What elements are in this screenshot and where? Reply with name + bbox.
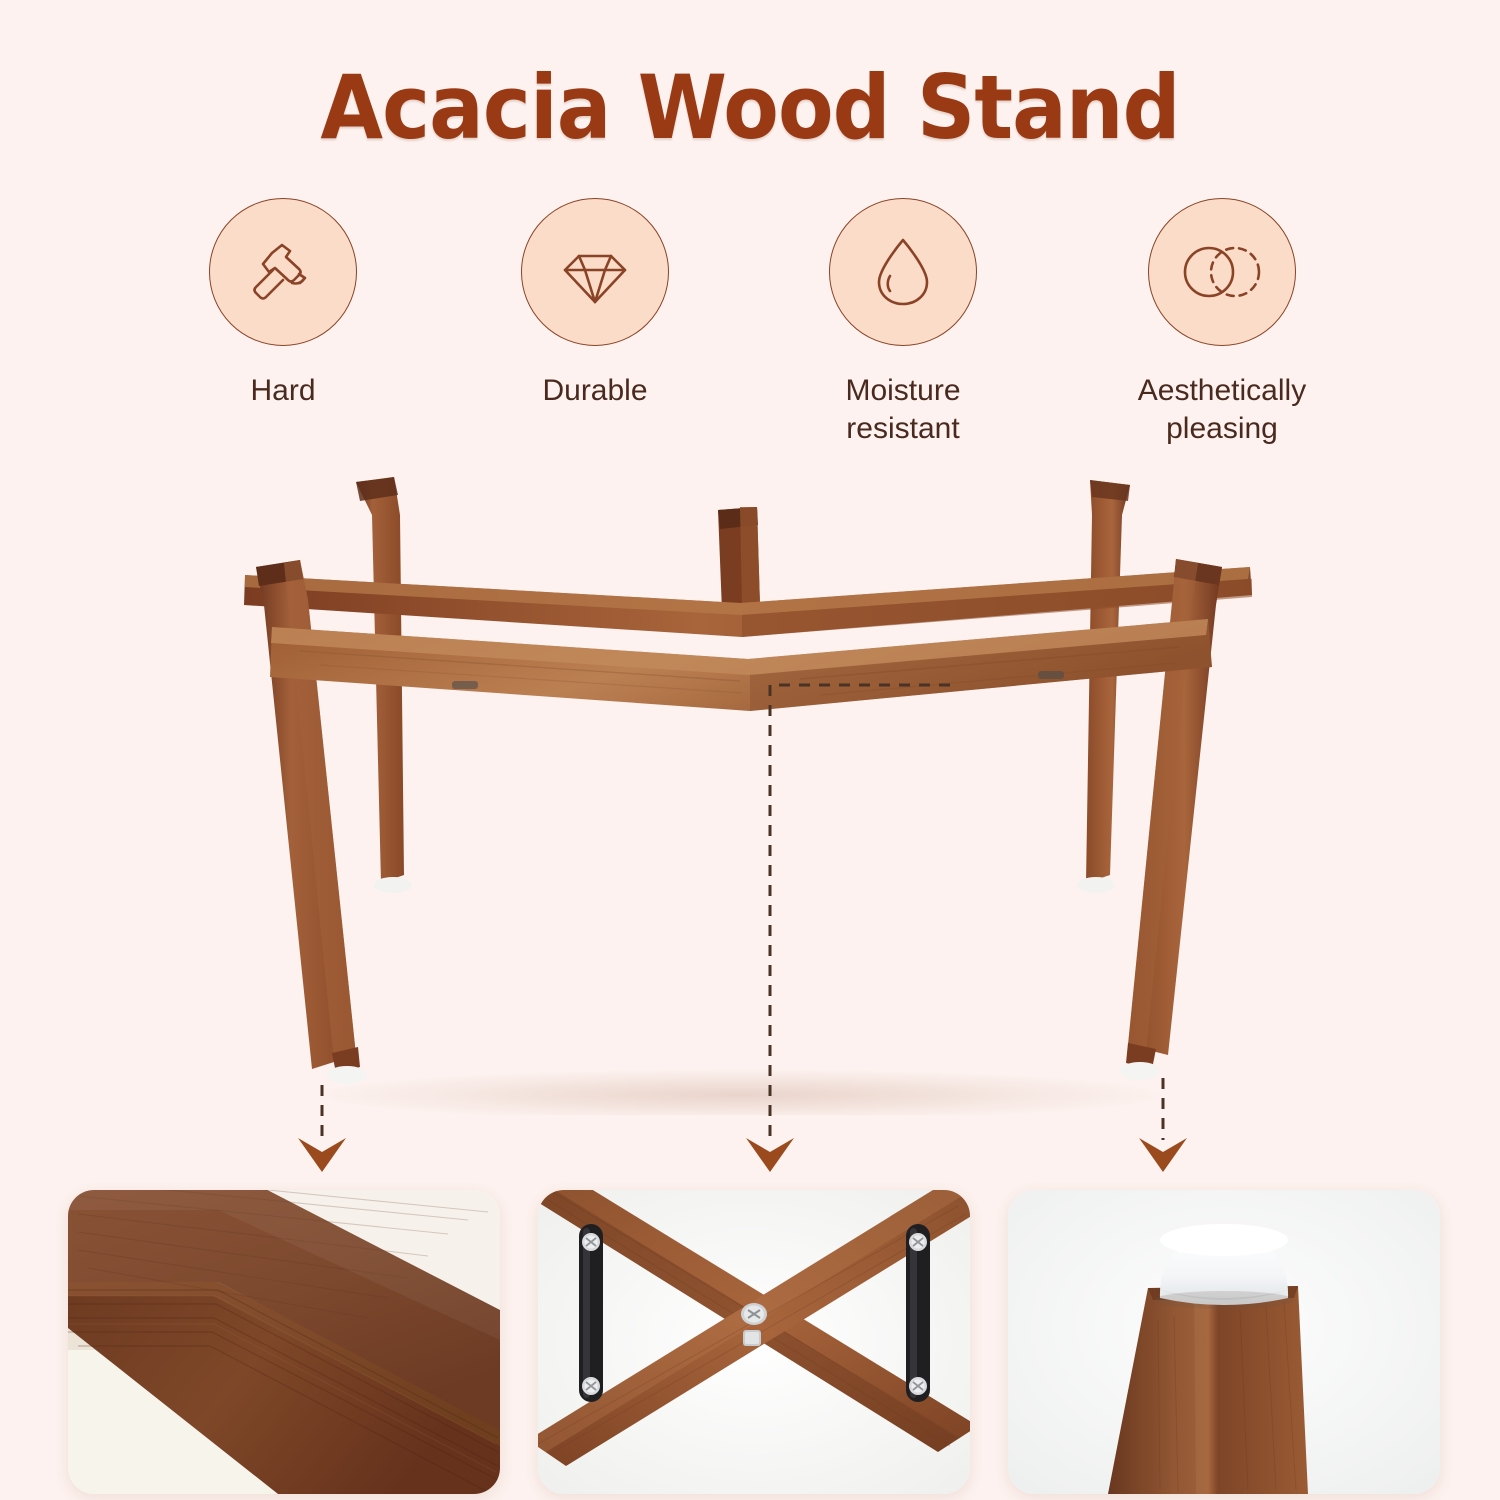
- feature-label: Moisture resistant: [783, 372, 1023, 448]
- center-screw: [741, 1303, 767, 1325]
- feature-label: Hard: [163, 372, 403, 410]
- page-title: Acacia Wood Stand: [60, 56, 1440, 159]
- product-photo-main: [0, 455, 1500, 1115]
- feature-label: Durable: [475, 372, 715, 410]
- panel-foot-cap: [1008, 1190, 1440, 1494]
- feature-icon-badge: [829, 198, 977, 346]
- feature-item-hard: Hard: [163, 198, 403, 410]
- hammer-icon: [242, 231, 324, 313]
- feature-label: Aesthetically pleasing: [1102, 372, 1342, 448]
- feature-item-durable: Durable: [475, 198, 715, 410]
- feature-icon-badge: [1148, 198, 1296, 346]
- feature-item-aesthetically-pleasing: Aesthetically pleasing: [1102, 198, 1342, 448]
- feature-icon-badge: [209, 198, 357, 346]
- stand-center-post: [718, 507, 760, 611]
- feature-strip: Hard Durable Moisture: [0, 198, 1500, 458]
- stand-leg-back-right: [1077, 480, 1130, 893]
- detail-panel-row: [0, 1190, 1500, 1500]
- water-droplet-icon: [870, 234, 936, 310]
- bracket-left: [579, 1224, 603, 1402]
- panel-cross-joint: [538, 1190, 970, 1494]
- overlapping-circles-icon: [1179, 241, 1265, 303]
- feature-icon-badge: [521, 198, 669, 346]
- diamond-icon: [557, 234, 633, 310]
- feature-item-moisture-resistant: Moisture resistant: [783, 198, 1023, 448]
- panel-wood-grain-corner: [68, 1190, 500, 1494]
- bracket-right: [906, 1224, 930, 1402]
